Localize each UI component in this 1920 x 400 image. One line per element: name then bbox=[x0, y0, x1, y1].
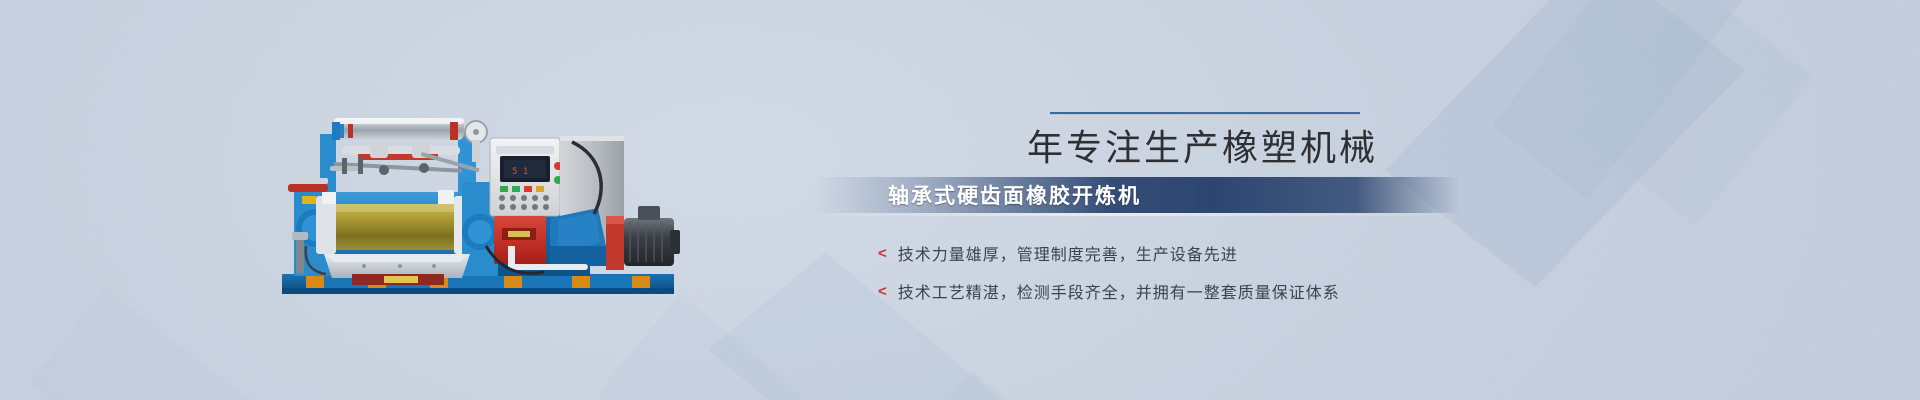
chevron-left-icon: < bbox=[878, 246, 888, 261]
product-title-bar: 轴承式硬齿面橡胶开炼机 bbox=[812, 177, 1460, 213]
rubber-mill-illustration: 5 1 bbox=[272, 96, 692, 306]
feature-text: 技术工艺精湛，检测手段齐全，并拥有一整套质量保证体系 bbox=[898, 279, 1340, 303]
decorative-polygon-bottom-left bbox=[31, 288, 310, 400]
page-title: 年专注生产橡塑机械 bbox=[860, 125, 1620, 171]
chevron-left-icon: < bbox=[878, 284, 888, 299]
machine-image: 5 1 bbox=[272, 96, 692, 306]
svg-text:5 1: 5 1 bbox=[512, 167, 528, 177]
banner-text-column: 年专注生产橡塑机械 轴承式硬齿面橡胶开炼机 < 技术力量雄厚，管理制度完善，生产… bbox=[860, 104, 1620, 317]
list-item: < 技术工艺精湛，检测手段齐全，并拥有一整套质量保证体系 bbox=[878, 279, 1620, 303]
headline-divider bbox=[1050, 112, 1360, 115]
feature-text: 技术力量雄厚，管理制度完善，生产设备先进 bbox=[898, 241, 1238, 265]
decorative-polygon-bottom-center-3 bbox=[870, 371, 1111, 400]
promo-banner: 5 1 bbox=[0, 0, 1920, 400]
product-title: 轴承式硬齿面橡胶开炼机 bbox=[888, 180, 1141, 210]
list-item: < 技术力量雄厚，管理制度完善，生产设备先进 bbox=[878, 241, 1620, 265]
feature-list: < 技术力量雄厚，管理制度完善，生产设备先进 < 技术工艺精湛，检测手段齐全，并… bbox=[878, 241, 1620, 303]
decorative-polygon-bottom-center-2 bbox=[597, 294, 803, 400]
